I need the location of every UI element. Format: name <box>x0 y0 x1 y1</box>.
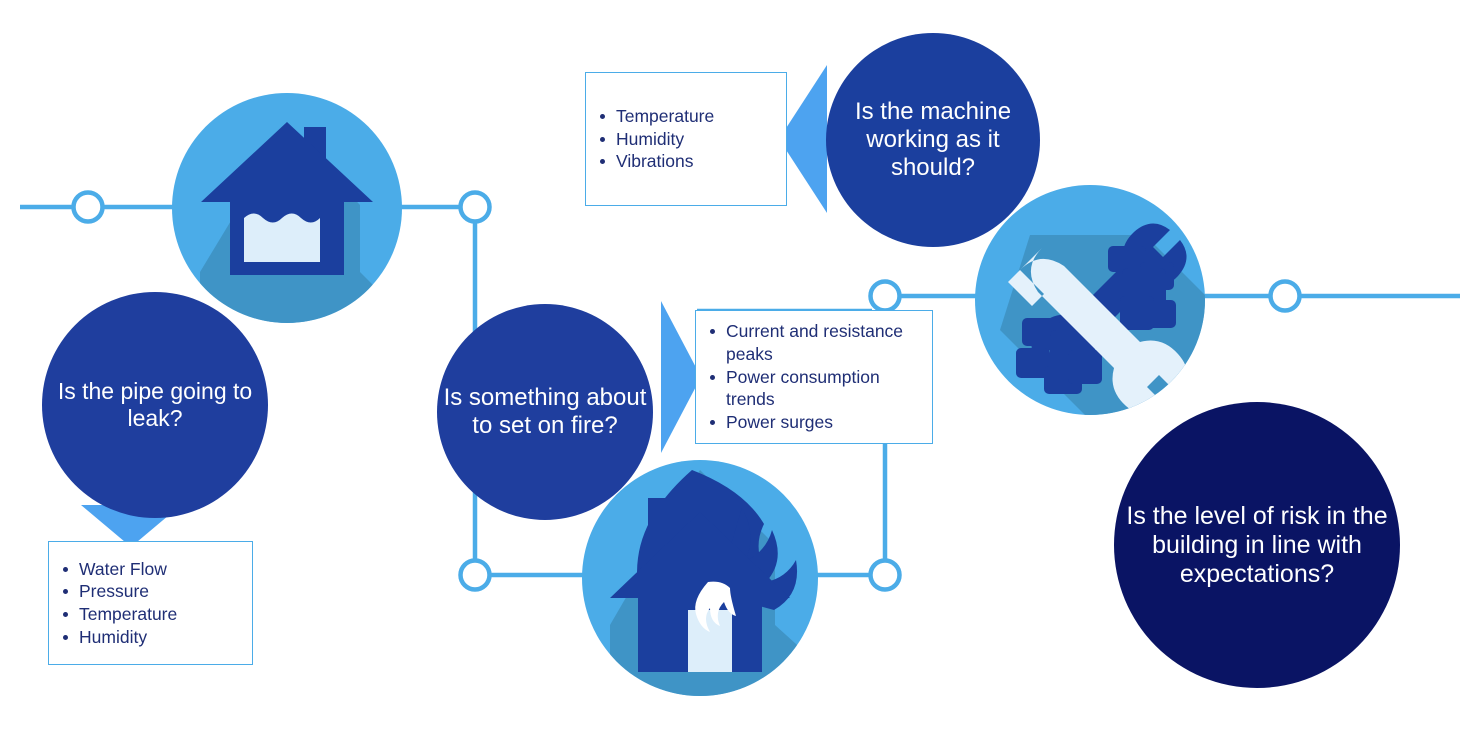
question-text-risk-level: Is the level of risk in the building in … <box>1120 502 1394 589</box>
question-text-set-on-fire: Is something about to set on fire? <box>443 384 647 440</box>
question-bubble-risk-level: Is the level of risk in the building in … <box>1114 402 1400 688</box>
question-bubbles-layer: Is the pipe going to leak? Is the machin… <box>0 0 1472 744</box>
question-bubble-machine-working: Is the machine working as it should? <box>826 33 1040 247</box>
diagram-canvas: Temperature Humidity Vibrations Current … <box>0 0 1472 744</box>
question-bubble-set-on-fire: Is something about to set on fire? <box>437 304 653 520</box>
question-text-machine-working: Is the machine working as it should? <box>832 98 1034 181</box>
question-bubble-pipe-leak: Is the pipe going to leak? <box>42 292 268 518</box>
question-text-pipe-leak: Is the pipe going to leak? <box>48 378 262 431</box>
